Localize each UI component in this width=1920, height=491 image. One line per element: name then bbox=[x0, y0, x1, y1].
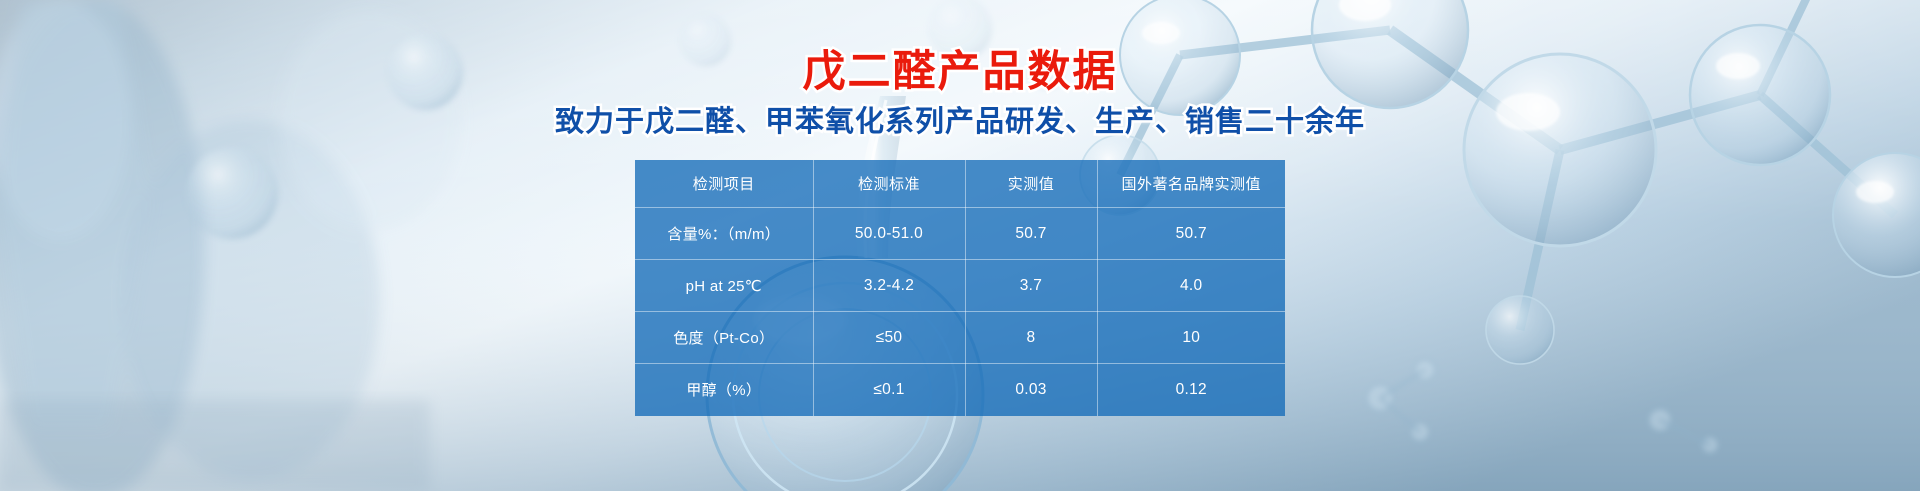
column-header-test-item: 检测项目 bbox=[635, 160, 813, 208]
column-header-measured-value: 实测值 bbox=[965, 160, 1097, 208]
cell-item: pH at 25℃ bbox=[635, 260, 813, 312]
table-row: 色度（Pt-Co） ≤50 8 10 bbox=[635, 312, 1285, 364]
cell-foreign: 0.12 bbox=[1097, 364, 1285, 416]
cell-standard: ≤50 bbox=[813, 312, 965, 364]
cell-measured: 0.03 bbox=[965, 364, 1097, 416]
cell-standard: ≤0.1 bbox=[813, 364, 965, 416]
cell-foreign: 4.0 bbox=[1097, 260, 1285, 312]
product-data-table: 检测项目 检测标准 实测值 国外著名品牌实测值 含量%：（m/m） 50.0-5… bbox=[635, 160, 1285, 416]
cell-item: 色度（Pt-Co） bbox=[635, 312, 813, 364]
cell-measured: 3.7 bbox=[965, 260, 1097, 312]
product-data-table-wrapper: 检测项目 检测标准 实测值 国外著名品牌实测值 含量%：（m/m） 50.0-5… bbox=[635, 160, 1285, 416]
product-data-banner: 戊二醛产品数据 致力于戊二醛、甲苯氧化系列产品研发、生产、销售二十余年 检测项目… bbox=[0, 0, 1920, 491]
cell-standard: 3.2-4.2 bbox=[813, 260, 965, 312]
page-title: 戊二醛产品数据 bbox=[803, 48, 1118, 96]
page-subtitle: 致力于戊二醛、甲苯氧化系列产品研发、生产、销售二十余年 bbox=[555, 106, 1365, 139]
cell-measured: 8 bbox=[965, 312, 1097, 364]
table-row: pH at 25℃ 3.2-4.2 3.7 4.0 bbox=[635, 260, 1285, 312]
table-row: 甲醇（%） ≤0.1 0.03 0.12 bbox=[635, 364, 1285, 416]
column-header-foreign-brand: 国外著名品牌实测值 bbox=[1097, 160, 1285, 208]
cell-foreign: 10 bbox=[1097, 312, 1285, 364]
table-header-row: 检测项目 检测标准 实测值 国外著名品牌实测值 bbox=[635, 160, 1285, 208]
cell-foreign: 50.7 bbox=[1097, 208, 1285, 260]
banner-content: 戊二醛产品数据 致力于戊二醛、甲苯氧化系列产品研发、生产、销售二十余年 检测项目… bbox=[0, 0, 1920, 491]
cell-measured: 50.7 bbox=[965, 208, 1097, 260]
cell-standard: 50.0-51.0 bbox=[813, 208, 965, 260]
cell-item: 含量%：（m/m） bbox=[635, 208, 813, 260]
column-header-test-standard: 检测标准 bbox=[813, 160, 965, 208]
cell-item: 甲醇（%） bbox=[635, 364, 813, 416]
table-row: 含量%：（m/m） 50.0-51.0 50.7 50.7 bbox=[635, 208, 1285, 260]
